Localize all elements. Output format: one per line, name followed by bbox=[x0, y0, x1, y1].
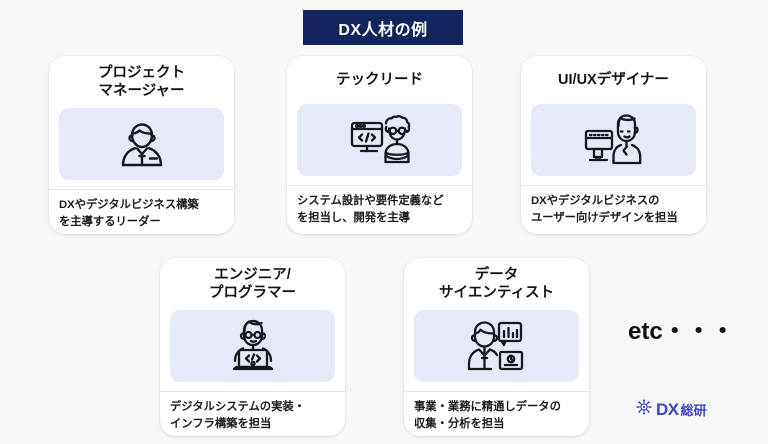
data-scientist-chart-icon bbox=[463, 317, 531, 375]
role-card-title: UI/UXデザイナー bbox=[521, 56, 706, 104]
role-desc-line1: DXやデジタルビジネス構築 bbox=[59, 199, 199, 211]
role-title-line2: マネージャー bbox=[99, 83, 185, 99]
role-icon-container bbox=[531, 104, 696, 176]
logo-dx-text: DX bbox=[656, 400, 679, 420]
role-title-line2: サイエンティスト bbox=[439, 285, 554, 301]
role-title-line1: テックリード bbox=[336, 71, 423, 89]
developer-monitor-code-icon bbox=[346, 111, 414, 169]
role-card-title: エンジニア/ プログラマー bbox=[160, 258, 345, 310]
role-desc-line1: デジタルシステムの実装・ bbox=[170, 401, 305, 413]
role-title-line1: プロジェクト bbox=[98, 65, 185, 81]
engineer-laptop-code-icon bbox=[222, 317, 284, 375]
role-icon-container bbox=[414, 310, 579, 382]
role-card-data-scientist[interactable]: データ サイエンティスト bbox=[404, 258, 589, 436]
role-card-ui-ux-designer[interactable]: UI/UXデザイナー bbox=[521, 56, 706, 234]
role-title-line1: エンジニア/ bbox=[214, 267, 291, 283]
etc-label: etc・・・ bbox=[628, 311, 735, 346]
role-card-description: デジタルシステムの実装・ インフラ構築を担当 bbox=[160, 391, 345, 436]
role-desc-line2: インフラ構築を担当 bbox=[170, 418, 271, 430]
slide-title-banner: DX人材の例 bbox=[303, 10, 463, 45]
role-card-tech-lead[interactable]: テックリード bbox=[287, 56, 472, 234]
brand-logo: DX 総研 bbox=[636, 398, 707, 421]
role-card-title: プロジェクト マネージャー bbox=[49, 56, 234, 108]
role-card-description: システム設計や要件定義など を担当し、開発を主導 bbox=[287, 185, 472, 234]
role-title-line2: プログラマー bbox=[209, 285, 296, 301]
role-desc-line2: 収集・分析を担当 bbox=[414, 418, 504, 430]
role-card-description: 事業・業務に精通しデータの 収集・分析を担当 bbox=[404, 391, 589, 436]
logo-suffix-text: 総研 bbox=[681, 400, 707, 419]
slide-canvas: DX人材の例 プロジェクト マネージャー bbox=[0, 0, 768, 444]
role-icon-container bbox=[170, 310, 335, 382]
role-title-line1: データ bbox=[475, 267, 519, 283]
designer-monitor-icon bbox=[580, 111, 648, 169]
role-card-title: テックリード bbox=[287, 56, 472, 104]
role-card-engineer-programmer[interactable]: エンジニア/ プログラマー bbox=[160, 258, 345, 436]
role-card-description: DXやデジタルビジネスの ユーザー向けデザインを担当 bbox=[521, 185, 706, 234]
role-title-line1: UI/UXデザイナー bbox=[558, 71, 669, 89]
role-desc-line2: を担当し、開発を主導 bbox=[297, 212, 410, 224]
business-person-icon bbox=[111, 115, 173, 173]
slide-title-text: DX人材の例 bbox=[338, 16, 427, 40]
role-icon-container bbox=[297, 104, 462, 176]
role-desc-line1: DXやデジタルビジネスの bbox=[531, 195, 659, 207]
role-desc-line2: ユーザー向けデザインを担当 bbox=[531, 212, 678, 224]
circuit-node-icon bbox=[636, 398, 654, 421]
role-card-project-manager[interactable]: プロジェクト マネージャー bbox=[49, 56, 234, 234]
role-desc-line2: を主導するリーダー bbox=[59, 216, 161, 228]
role-desc-line1: 事業・業務に精通しデータの bbox=[414, 401, 561, 413]
role-card-title: データ サイエンティスト bbox=[404, 258, 589, 310]
role-icon-container bbox=[59, 108, 224, 180]
role-desc-line1: システム設計や要件定義など bbox=[297, 195, 444, 207]
role-card-description: DXやデジタルビジネス構築 を主導するリーダー bbox=[49, 189, 234, 234]
